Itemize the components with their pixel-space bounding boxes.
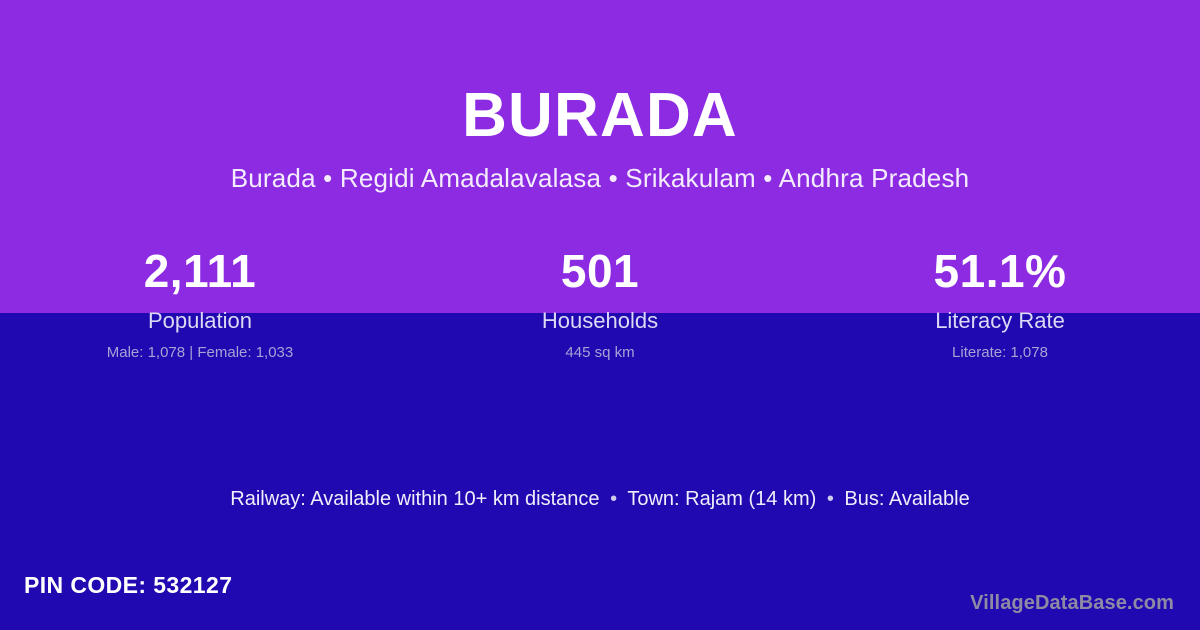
card-header: BURADA Burada • Regidi Amadalavalasa • S… [0,0,1200,194]
bullet-separator-icon: • [605,488,622,510]
stat-population: 2,111 Population Male: 1,078 | Female: 1… [0,248,400,362]
stat-value: 51.1% [800,248,1200,294]
card-footer: PIN CODE: 532127 VillageDataBase.com [0,572,1200,630]
bus-info: Bus: Available [844,488,969,510]
pin-code: PIN CODE: 532127 [24,572,232,600]
site-branding: VillageDataBase.com [970,591,1174,615]
railway-info: Railway: Available within 10+ km distanc… [230,488,599,510]
village-info-card: BURADA Burada • Regidi Amadalavalasa • S… [0,0,1200,630]
bullet-separator-icon: • [822,488,839,510]
stat-sub-detail: Literate: 1,078 [800,345,1200,362]
stat-label: Population [0,309,400,333]
stat-households: 501 Households 445 sq km [400,248,800,362]
stat-sub-detail: Male: 1,078 | Female: 1,033 [0,345,400,362]
stat-literacy-rate: 51.1% Literacy Rate Literate: 1,078 [800,248,1200,362]
stats-row: 2,111 Population Male: 1,078 | Female: 1… [0,248,1200,362]
stat-label: Literacy Rate [800,309,1200,333]
stat-label: Households [400,309,800,333]
page-title: BURADA [0,0,1200,147]
stat-value: 2,111 [0,248,400,294]
infrastructure-line: Railway: Available within 10+ km distanc… [0,487,1200,511]
breadcrumb: Burada • Regidi Amadalavalasa • Srikakul… [0,147,1200,194]
nearest-town-info: Town: Rajam (14 km) [627,488,816,510]
stat-sub-detail: 445 sq km [400,345,800,362]
stat-value: 501 [400,248,800,294]
